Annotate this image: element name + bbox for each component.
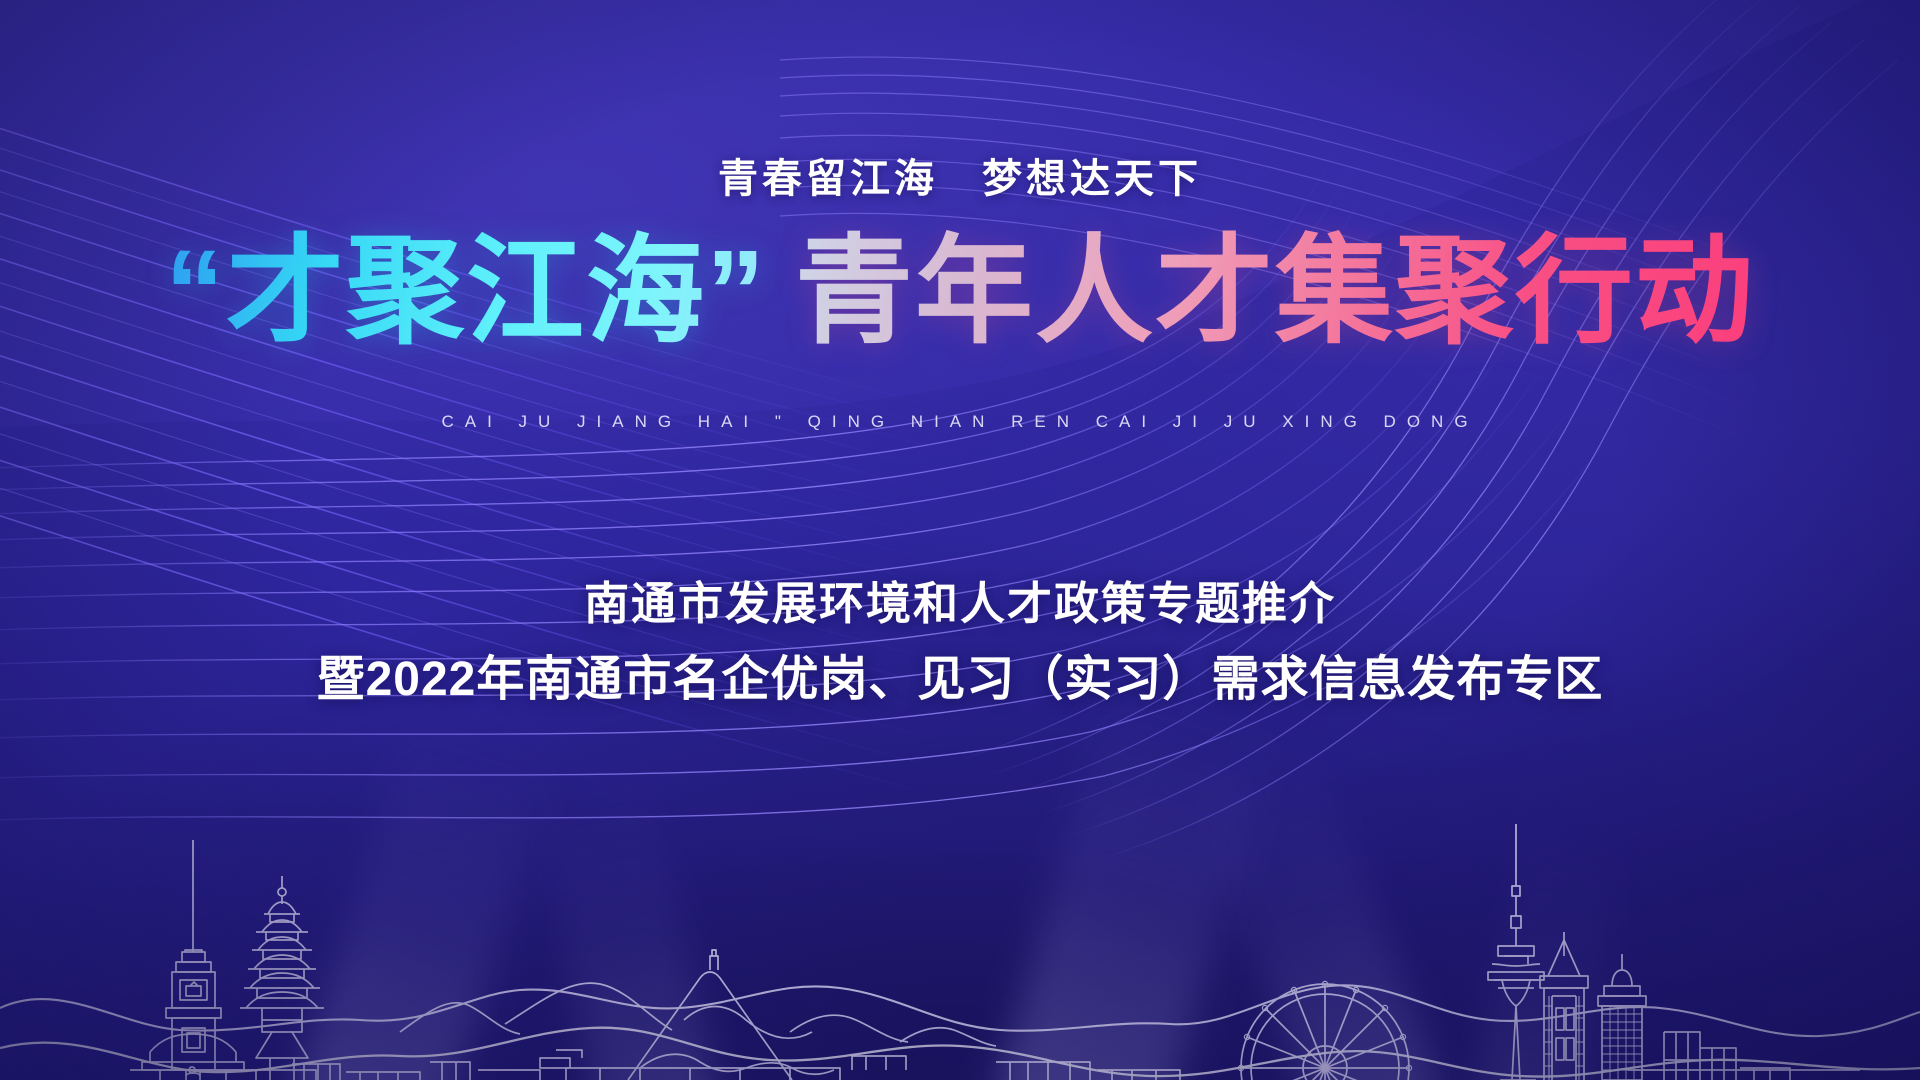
- headline: “才聚江海”青年人才集聚行动: [0, 230, 1920, 355]
- event-subtitle: 南通市发展环境和人才政策专题推介 暨2022年南通市名企优岗、见习（实习）需求信…: [0, 572, 1920, 714]
- headline-part-b: 青年人才集聚行动: [795, 226, 1755, 358]
- event-subtitle-line-1: 南通市发展环境和人才政策专题推介: [0, 572, 1920, 636]
- tagline: 青春留江海 梦想达天下: [0, 146, 1920, 204]
- headline-part-a: “才聚江海”: [165, 226, 767, 358]
- pinyin-subtitle: CAI JU JIANG HAI " QING NIAN REN CAI JI …: [0, 412, 1920, 432]
- event-subtitle-line-2: 暨2022年南通市名企优岗、见习（实习）需求信息发布专区: [0, 646, 1920, 714]
- banner-canvas: 青春留江海 梦想达天下 “才聚江海”青年人才集聚行动 CAI JU JIANG …: [0, 0, 1920, 1080]
- banner-content: 青春留江海 梦想达天下 “才聚江海”青年人才集聚行动 CAI JU JIANG …: [0, 0, 1920, 1080]
